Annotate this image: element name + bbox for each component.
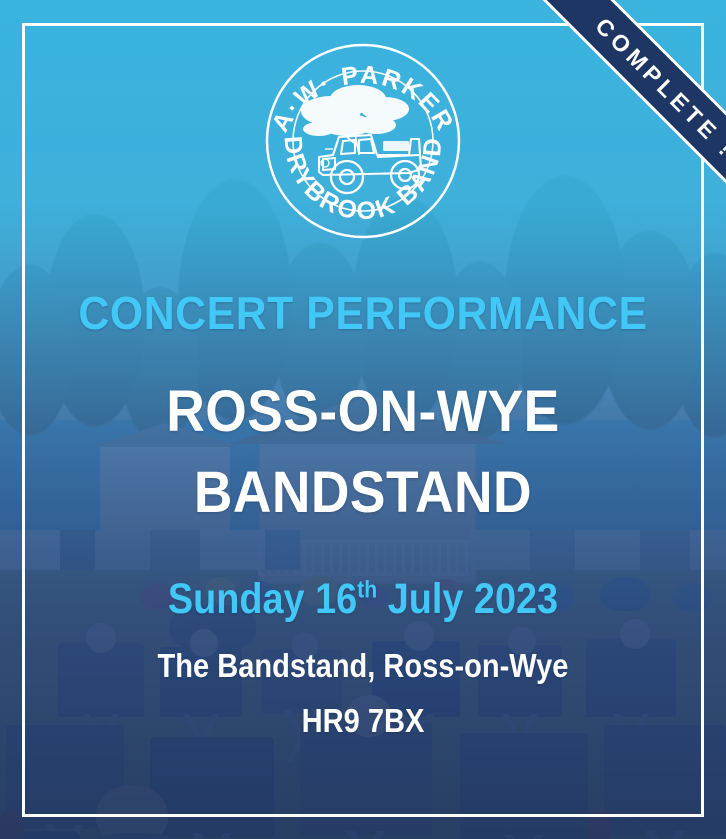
band-crest-logo: A·W· PARKER DRYBROOK BAND — [259, 37, 467, 245]
event-type-kicker: CONCERT PERFORMANCE — [57, 290, 669, 336]
status-badge: COMPLETE ! — [521, 0, 726, 233]
event-date-day: Sunday 16 — [168, 575, 357, 623]
status-ribbon: COMPLETE ! — [468, 0, 726, 258]
page-title-line-1: ROSS-ON-WYE — [60, 384, 665, 441]
status-badge-label: COMPLETE ! — [528, 0, 726, 225]
event-date-month-year: July 2023 — [377, 575, 558, 623]
venue-name: The Bandstand, Ross-on-Wye — [73, 649, 652, 682]
event-date: Sunday 16th July 2023 — [73, 578, 652, 621]
event-poster: A·W· PARKER DRYBROOK BAND — [0, 0, 726, 839]
page-title-line-2: BANDSTAND — [60, 465, 665, 522]
poster-content: CONCERT PERFORMANCE ROSS-ON-WYE BANDSTAN… — [0, 262, 726, 737]
venue-postcode: HR9 7BX — [73, 704, 652, 737]
event-date-ordinal: th — [357, 576, 377, 603]
